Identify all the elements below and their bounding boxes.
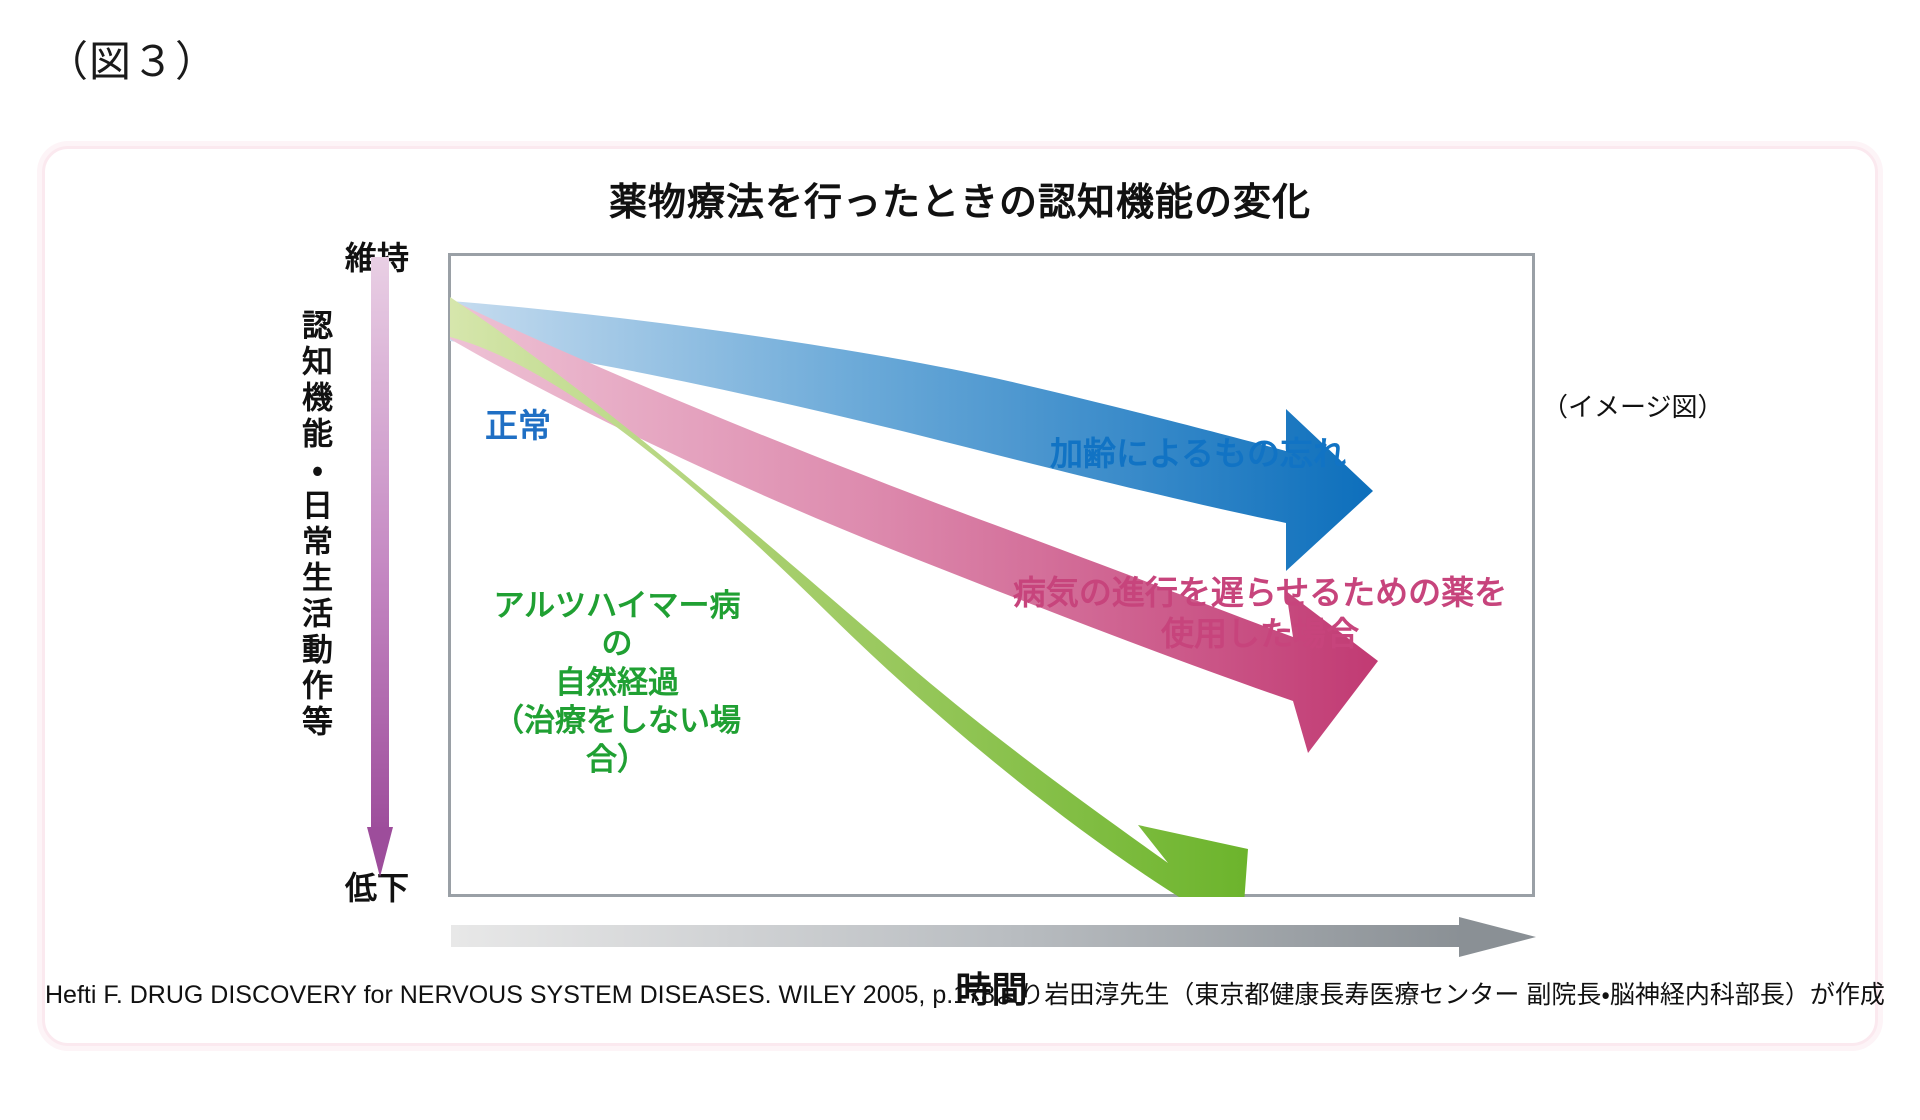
label-natural-line3: （治療をしない場合） [482, 702, 752, 779]
label-aging-forgetfulness: 加齢によるもの忘れ [1050, 427, 1346, 475]
chart-title: 薬物療法を行ったときの認知機能の変化 [45, 171, 1875, 226]
figure-caption: （図３） [46, 28, 218, 89]
y-axis-gradient-arrow-icon [367, 257, 393, 877]
label-with-drug-treatment: 病気の進行を遅らせるための薬を 使用した場合 [1010, 573, 1510, 655]
label-drug-line1: 病気の進行を遅らせるための薬を [1010, 573, 1510, 614]
label-normal: 正常 [485, 399, 551, 447]
image-note-label: （イメージ図） [1542, 387, 1723, 424]
label-natural-line2: 自然経過 [482, 664, 752, 702]
label-natural-line1: アルツハイマー病の [482, 587, 752, 664]
source-citation: Hefti F. DRUG DISCOVERY for NERVOUS SYST… [45, 975, 1875, 1011]
label-drug-line2: 使用した場合 [1010, 614, 1510, 655]
x-axis-gradient-arrow-icon [451, 917, 1536, 957]
y-axis-title: 認知機能・日常生活動作等 [288, 309, 330, 829]
figure-panel: 薬物療法を行ったときの認知機能の変化 （イメージ図） 維持 低下 認知機能・日常… [42, 146, 1878, 1046]
label-natural-course: アルツハイマー病の 自然経過 （治療をしない場合） [482, 587, 752, 779]
